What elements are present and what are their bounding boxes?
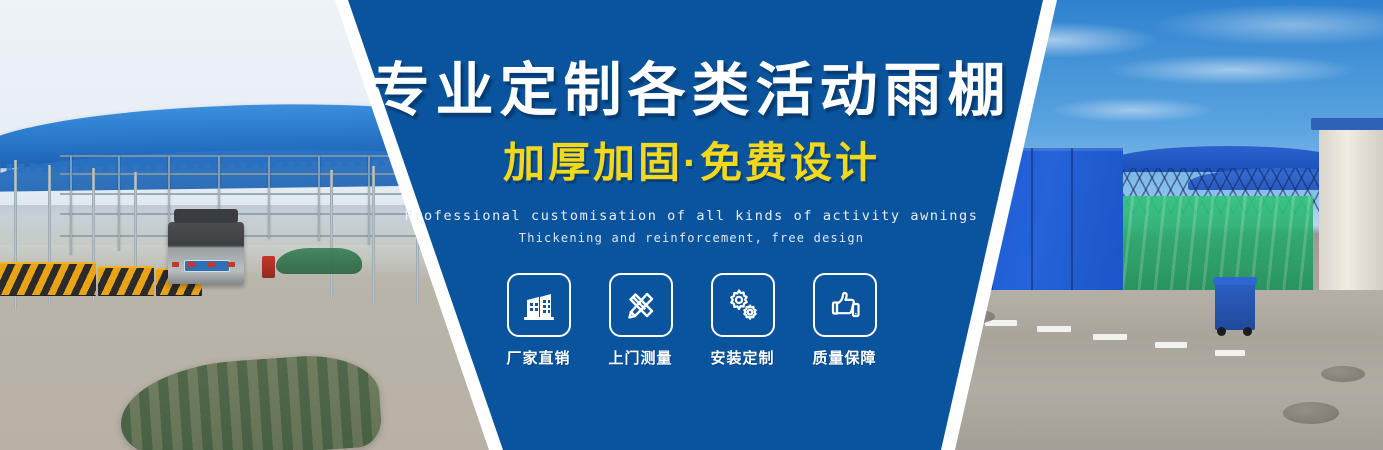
feature-item-installation-custom[interactable]: 安装定制 xyxy=(707,273,779,368)
english-subtitle-line1: Professional customisation of all kinds … xyxy=(405,208,979,224)
left-photo-truck-lamps xyxy=(170,262,242,268)
feature-item-onsite-measurement[interactable]: 上门测量 xyxy=(605,273,677,368)
left-photo-truck xyxy=(168,222,244,284)
pencil-ruler-icon xyxy=(609,273,673,337)
gears-icon xyxy=(711,273,775,337)
thumbs-up-icon xyxy=(813,273,877,337)
feature-item-quality-guarantee[interactable]: 质量保障 xyxy=(809,273,881,368)
building-icon xyxy=(507,273,571,337)
promo-banner: 专业定制各类活动雨棚 加厚加固·免费设计 Professional custom… xyxy=(0,0,1383,450)
feature-list: 厂家直销 上门测量 xyxy=(503,273,881,368)
left-photo-folded-tarp xyxy=(117,351,383,450)
feature-label: 质量保障 xyxy=(812,347,876,368)
feature-label: 安装定制 xyxy=(710,347,774,368)
feature-label: 上门测量 xyxy=(608,347,672,368)
left-photo-red-bin xyxy=(262,256,275,278)
feature-label: 厂家直销 xyxy=(506,347,570,368)
headline: 专业定制各类活动雨棚 xyxy=(371,62,1011,120)
right-photo-blue-wheelie-bin xyxy=(1215,282,1255,330)
left-photo-safety-barrier xyxy=(98,266,154,296)
english-subtitle-line2: Thickening and reinforcement, free desig… xyxy=(519,231,864,245)
right-photo-manhole-cover xyxy=(1283,402,1339,424)
left-photo-safety-barrier xyxy=(0,262,96,296)
right-photo-concrete-ground xyxy=(933,290,1383,450)
right-photo-manhole-cover xyxy=(1321,366,1365,382)
left-photo-green-tarp-pile xyxy=(276,248,362,274)
subheadline: 加厚加固·免费设计 xyxy=(503,142,880,184)
feature-item-factory-direct[interactable]: 厂家直销 xyxy=(503,273,575,368)
